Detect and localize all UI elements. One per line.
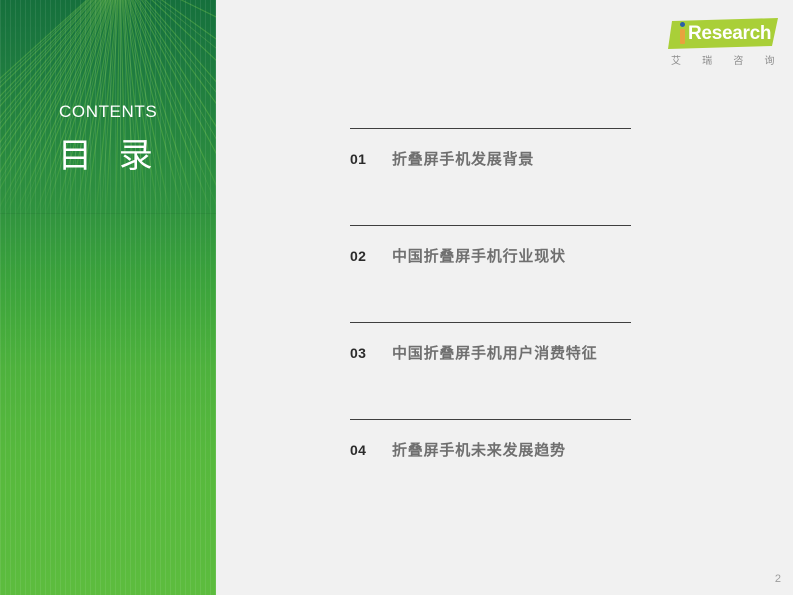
toc-number: 03 <box>350 345 392 361</box>
logo-i-dot-icon <box>680 22 685 27</box>
logo-i-stem-icon <box>680 29 685 44</box>
toc-row: 03 中国折叠屏手机用户消费特征 <box>350 342 597 363</box>
toc-row: 01 折叠屏手机发展背景 <box>350 148 534 169</box>
toc-item-03[interactable]: 03 中国折叠屏手机用户消费特征 <box>350 322 631 419</box>
toc-row: 02 中国折叠屏手机行业现状 <box>350 245 566 266</box>
contents-heading-en: CONTENTS <box>59 102 157 122</box>
toc-number: 01 <box>350 151 392 167</box>
panel-seam-divider <box>0 213 216 214</box>
toc-number: 02 <box>350 248 392 264</box>
vertical-stripe-texture <box>0 0 216 595</box>
page-number: 2 <box>775 573 781 585</box>
toc-item-01[interactable]: 01 折叠屏手机发展背景 <box>350 128 631 225</box>
toc-title: 中国折叠屏手机用户消费特征 <box>392 342 597 363</box>
slide-contents-page: CONTENTS 目 录 Research 艾 瑞 咨 询 01 折叠屏手机发展… <box>0 0 793 595</box>
logo-badge-shape: Research <box>668 18 780 50</box>
left-decorative-panel: CONTENTS 目 录 <box>0 0 216 595</box>
toc-divider-rule <box>350 419 631 420</box>
logo-subtitle-cn: 艾 瑞 咨 询 <box>671 52 784 67</box>
toc-item-02[interactable]: 02 中国折叠屏手机行业现状 <box>350 225 631 322</box>
toc-number: 04 <box>350 442 392 458</box>
table-of-contents: 01 折叠屏手机发展背景 02 中国折叠屏手机行业现状 03 中国折叠屏手机用户… <box>350 128 631 516</box>
toc-title: 折叠屏手机未来发展趋势 <box>392 439 566 460</box>
contents-heading-cn: 目 录 <box>58 128 161 177</box>
toc-title: 折叠屏手机发展背景 <box>392 148 534 169</box>
logo-wordmark: Research <box>688 23 771 45</box>
toc-item-04[interactable]: 04 折叠屏手机未来发展趋势 <box>350 419 631 516</box>
toc-row: 04 折叠屏手机未来发展趋势 <box>350 439 566 460</box>
toc-divider-rule <box>350 225 631 226</box>
toc-divider-rule <box>350 128 631 129</box>
iresearch-logo: Research 艾 瑞 咨 询 <box>668 18 780 70</box>
toc-divider-rule <box>350 322 631 323</box>
toc-title: 中国折叠屏手机行业现状 <box>392 245 566 266</box>
